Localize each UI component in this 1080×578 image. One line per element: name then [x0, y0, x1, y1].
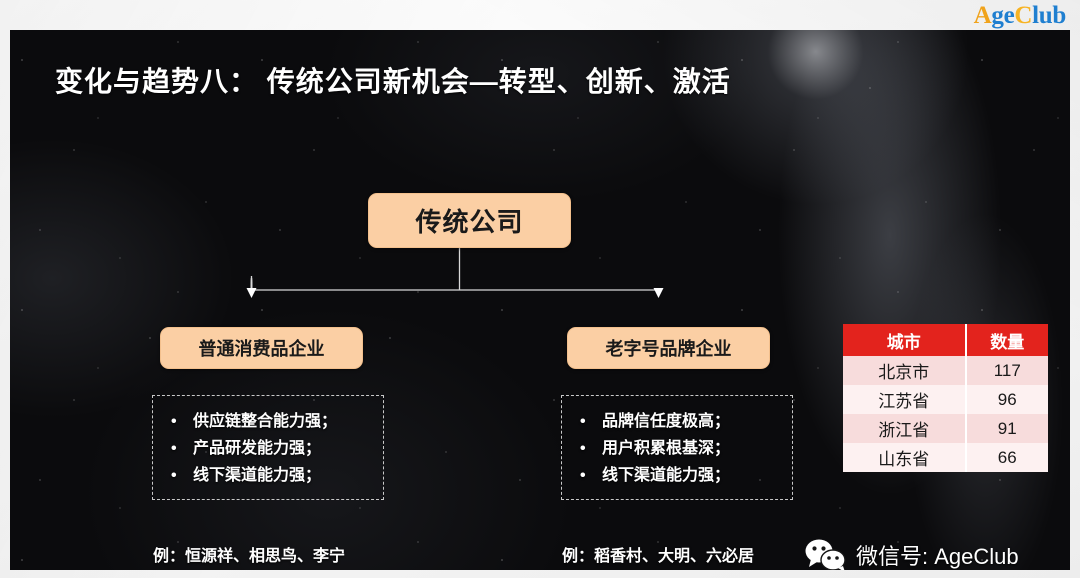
slide-canvas: 变化与趋势八： 传统公司新机会—转型、创新、激活 [10, 30, 1070, 570]
city-count-table: 城市 数量 北京市 117 江苏省 96 浙江省 91 山东省 [843, 324, 1048, 472]
list-item: 产品研发能力强； [153, 435, 383, 462]
list-item: 线下渠道能力强； [562, 462, 792, 489]
table-row: 浙江省 91 [843, 414, 1048, 443]
table-cell-city: 江苏省 [843, 385, 966, 414]
list-item: 线下渠道能力强； [153, 462, 383, 489]
logo-letter-a: A [974, 2, 992, 29]
table-cell-city: 山东省 [843, 443, 966, 472]
table-cell-count: 66 [966, 443, 1048, 472]
table-row: 北京市 117 [843, 356, 1048, 385]
feature-list-right: 品牌信任度极高； 用户积累根基深； 线下渠道能力强； [562, 408, 792, 489]
table-cell-count: 117 [966, 356, 1048, 385]
list-item: 用户积累根基深； [562, 435, 792, 462]
logo-letters-ge: ge [991, 2, 1014, 29]
page-title: 变化与趋势八： 传统公司新机会—转型、创新、激活 [55, 60, 731, 100]
slide-page: AgeClub 变化与趋势八： 传统公司新机会—转型、创新、激活 [0, 0, 1080, 578]
table-header-count: 数量 [966, 324, 1048, 356]
org-node-ordinary-consumer-goods[interactable]: 普通消费品企业 [160, 327, 363, 369]
table-header-row: 城市 数量 [843, 324, 1048, 356]
table-row: 江苏省 96 [843, 385, 1048, 414]
wechat-footer: 微信号: AgeClub [805, 538, 1019, 570]
logo-letter-c: C [1014, 2, 1032, 29]
logo-letters-lub: lub [1032, 2, 1066, 29]
table-cell-count: 96 [966, 385, 1048, 414]
table-cell-city: 北京市 [843, 356, 966, 385]
ageclub-logo: AgeClub [974, 2, 1066, 30]
example-caption-left: 例：恒源祥、相思鸟、李宁 [153, 542, 345, 566]
example-caption-right: 例：稻香村、大明、六必居 [562, 542, 754, 566]
table-cell-count: 91 [966, 414, 1048, 443]
org-node-time-honored-brand[interactable]: 老字号品牌企业 [567, 327, 770, 369]
wechat-icon [805, 538, 847, 570]
feature-panel-right: 品牌信任度极高； 用户积累根基深； 线下渠道能力强； [561, 395, 793, 500]
feature-panel-left: 供应链整合能力强； 产品研发能力强； 线下渠道能力强； [152, 395, 384, 500]
table-header-city: 城市 [843, 324, 966, 356]
list-item: 供应链整合能力强； [153, 408, 383, 435]
wechat-id-label: 微信号: AgeClub [856, 539, 1019, 570]
org-node-root[interactable]: 传统公司 [368, 193, 571, 248]
feature-list-left: 供应链整合能力强； 产品研发能力强； 线下渠道能力强； [153, 408, 383, 489]
table-cell-city: 浙江省 [843, 414, 966, 443]
table-row: 山东省 66 [843, 443, 1048, 472]
list-item: 品牌信任度极高； [562, 408, 792, 435]
